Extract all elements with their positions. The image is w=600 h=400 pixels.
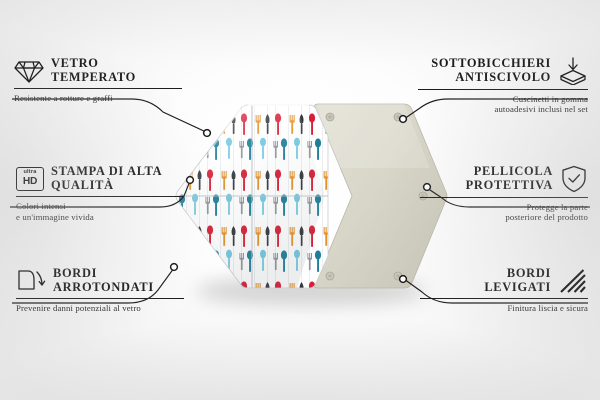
ultra-hd-badge-icon: ultra HD: [16, 167, 44, 191]
feature-title-line1: BORDI: [484, 267, 551, 281]
feature-subtitle-line2: autoadesivi inclusi nel set: [418, 104, 588, 114]
feature-title-line1: VETRO: [51, 57, 136, 71]
feature-pellicola-protettiva: PELLICOLA PROTETTIVA Protegge la parte p…: [420, 165, 588, 223]
shield-check-icon: [560, 165, 588, 193]
feature-title-line2: LEVIGATI: [484, 281, 551, 295]
feature-rule: [16, 298, 184, 299]
feature-title-line2: TEMPERATO: [51, 71, 136, 85]
feature-subtitle-line1: Finitura liscia e sicura: [420, 303, 588, 313]
feature-rule: [14, 88, 182, 89]
feature-title-line2: ANTISCIVOLO: [431, 71, 551, 85]
feature-title-line2: ARROTONDATI: [53, 281, 154, 295]
feature-title-line2: PROTETTIVA: [466, 179, 553, 193]
feature-subtitle-line2: posteriore del prodotto: [420, 212, 588, 222]
feature-vetro-temperato: VETRO TEMPERATO Resistente a rotture e g…: [14, 57, 182, 104]
feature-subtitle-line1: Protegge la parte: [420, 202, 588, 212]
ultra-hd-badge-bottom: HD: [23, 177, 37, 187]
infographic-canvas: VETRO TEMPERATO Resistente a rotture e g…: [0, 0, 600, 400]
wire-vetro-temperato: [12, 99, 206, 132]
feature-subtitle-line1: Cuscinetti in gomma: [418, 94, 588, 104]
diamond-icon: [14, 58, 44, 84]
rounded-corner-icon: [16, 268, 46, 294]
press-pad-icon: [558, 57, 588, 85]
feature-title-line1: PELLICOLA: [466, 165, 553, 179]
feature-rule: [16, 196, 184, 197]
feature-title-line1: BORDI: [53, 267, 154, 281]
feature-title-line1: SOTTOBICCHIERI: [431, 57, 551, 71]
feature-bordi-levigati: BORDI LEVIGATI Finitura liscia e sicura: [420, 267, 588, 314]
feature-subtitle-line2: e un'immagine vivida: [16, 212, 184, 222]
feature-title-line1: STAMPA DI ALTA: [51, 165, 162, 179]
feature-bordi-arrotondati: BORDI ARROTONDATI Prevenire danni potenz…: [16, 267, 184, 314]
feature-title-line2: QUALITÀ: [51, 179, 162, 193]
feature-subtitle-line1: Colori intensi: [16, 201, 184, 211]
feature-rule: [420, 197, 588, 198]
wire-endpoint-dots: [171, 116, 431, 283]
hatch-triangle-icon: [558, 268, 588, 294]
feature-subtitle-line1: Resistente a rotture e graffi: [14, 93, 182, 103]
feature-sottobicchieri-antiscivolo: SOTTOBICCHIERI ANTISCIVOLO Cuscinetti in…: [418, 57, 588, 115]
feature-rule: [420, 298, 588, 299]
feature-stampa-di-alta-qualita: ultra HD STAMPA DI ALTA QUALITÀ Colori i…: [16, 165, 184, 222]
feature-subtitle-line1: Prevenire danni potenziali al vetro: [16, 303, 184, 313]
feature-rule: [418, 89, 588, 90]
